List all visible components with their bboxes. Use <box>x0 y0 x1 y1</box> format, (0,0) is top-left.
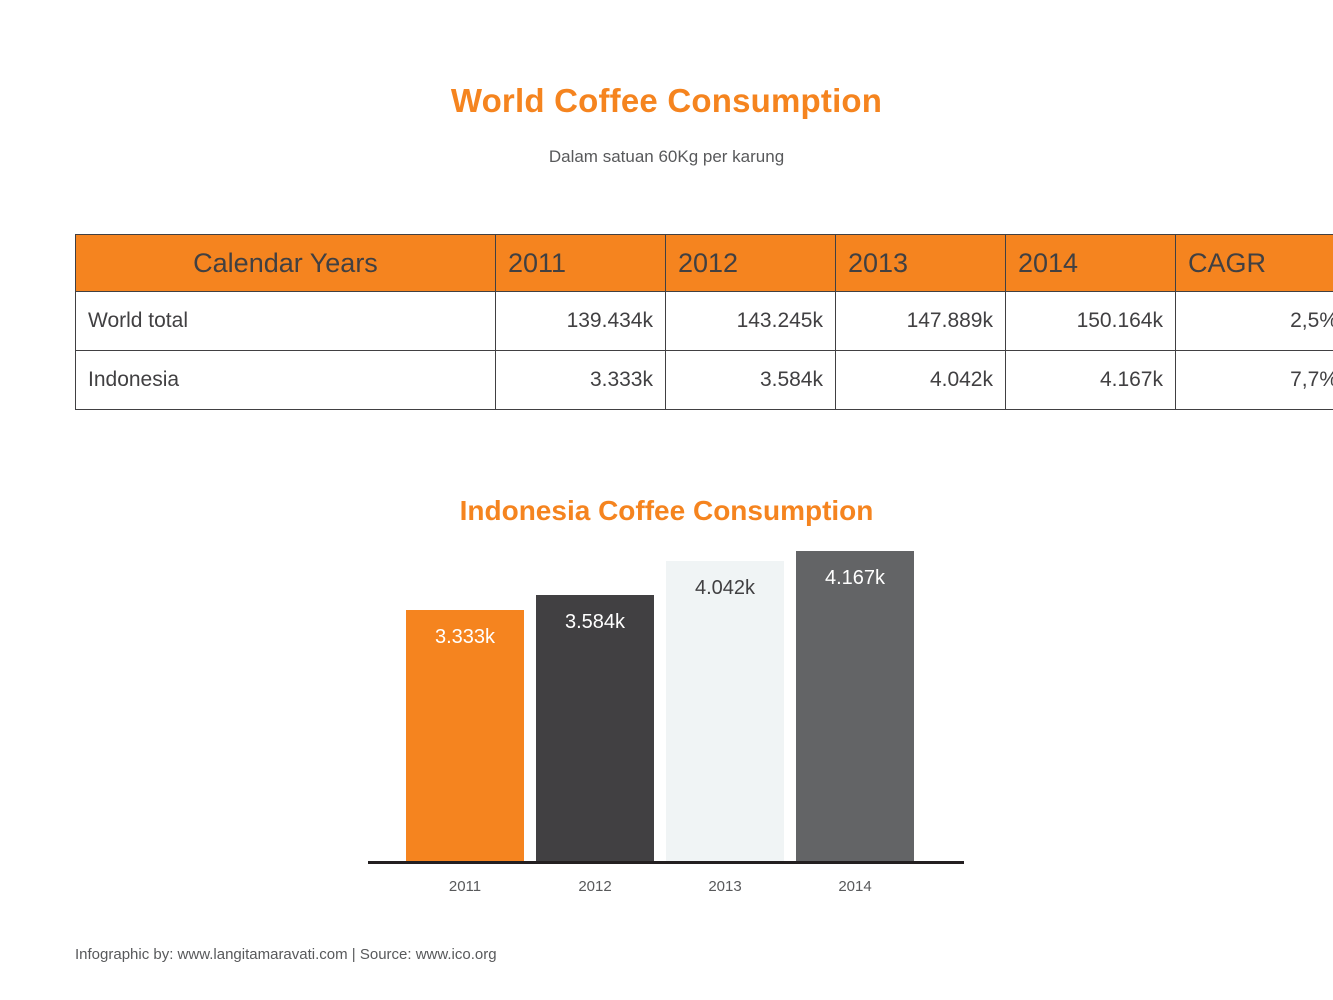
coffee-consumption-table: Calendar Years 2011 2012 2013 2014 CAGR … <box>75 234 1333 410</box>
cell-indonesia-cagr: 7,7% <box>1176 351 1333 410</box>
page-subtitle: Dalam satuan 60Kg per karung <box>0 147 1333 167</box>
chart-baseline-axis <box>368 861 964 864</box>
bar-value-2013: 4.042k <box>666 577 784 600</box>
bar-chart: 3.333k 3.584k 4.042k 4.167k <box>368 540 964 865</box>
bar-2013: 4.042k <box>666 561 784 862</box>
column-header-calendar-years: Calendar Years <box>76 235 496 292</box>
table-row: World total 139.434k 143.245k 147.889k 1… <box>76 292 1333 351</box>
table-row: Indonesia 3.333k 3.584k 4.042k 4.167k 7,… <box>76 351 1333 410</box>
column-header-cagr: CAGR <box>1176 235 1333 292</box>
footer-credit: Infographic by: www.langitamaravati.com … <box>75 946 497 963</box>
column-header-2014: 2014 <box>1006 235 1176 292</box>
chart-title: Indonesia Coffee Consumption <box>0 495 1333 527</box>
cell-indonesia-2011: 3.333k <box>496 351 666 410</box>
bar-value-2014: 4.167k <box>796 567 914 590</box>
bar-2014: 4.167k <box>796 551 914 862</box>
cell-indonesia-2012: 3.584k <box>666 351 836 410</box>
cell-world-total-2014: 150.164k <box>1006 292 1176 351</box>
cell-world-total-2011: 139.434k <box>496 292 666 351</box>
cell-world-total-2013: 147.889k <box>836 292 1006 351</box>
column-header-2013: 2013 <box>836 235 1006 292</box>
cell-world-total-cagr: 2,5% <box>1176 292 1333 351</box>
x-tick-2014: 2014 <box>796 878 914 895</box>
x-tick-2013: 2013 <box>666 878 784 895</box>
row-label-world-total: World total <box>76 292 496 351</box>
table-header-row: Calendar Years 2011 2012 2013 2014 CAGR <box>76 235 1333 292</box>
x-tick-2011: 2011 <box>406 878 524 895</box>
column-header-2011: 2011 <box>496 235 666 292</box>
bar-2012: 3.584k <box>536 595 654 862</box>
row-label-indonesia: Indonesia <box>76 351 496 410</box>
x-tick-2012: 2012 <box>536 878 654 895</box>
cell-indonesia-2013: 4.042k <box>836 351 1006 410</box>
bar-2011: 3.333k <box>406 610 524 862</box>
bar-value-2011: 3.333k <box>406 626 524 649</box>
cell-indonesia-2014: 4.167k <box>1006 351 1176 410</box>
page-title: World Coffee Consumption <box>0 82 1333 120</box>
bar-value-2012: 3.584k <box>536 611 654 634</box>
cell-world-total-2012: 143.245k <box>666 292 836 351</box>
chart-x-axis: 2011 2012 2013 2014 <box>368 878 964 904</box>
column-header-2012: 2012 <box>666 235 836 292</box>
